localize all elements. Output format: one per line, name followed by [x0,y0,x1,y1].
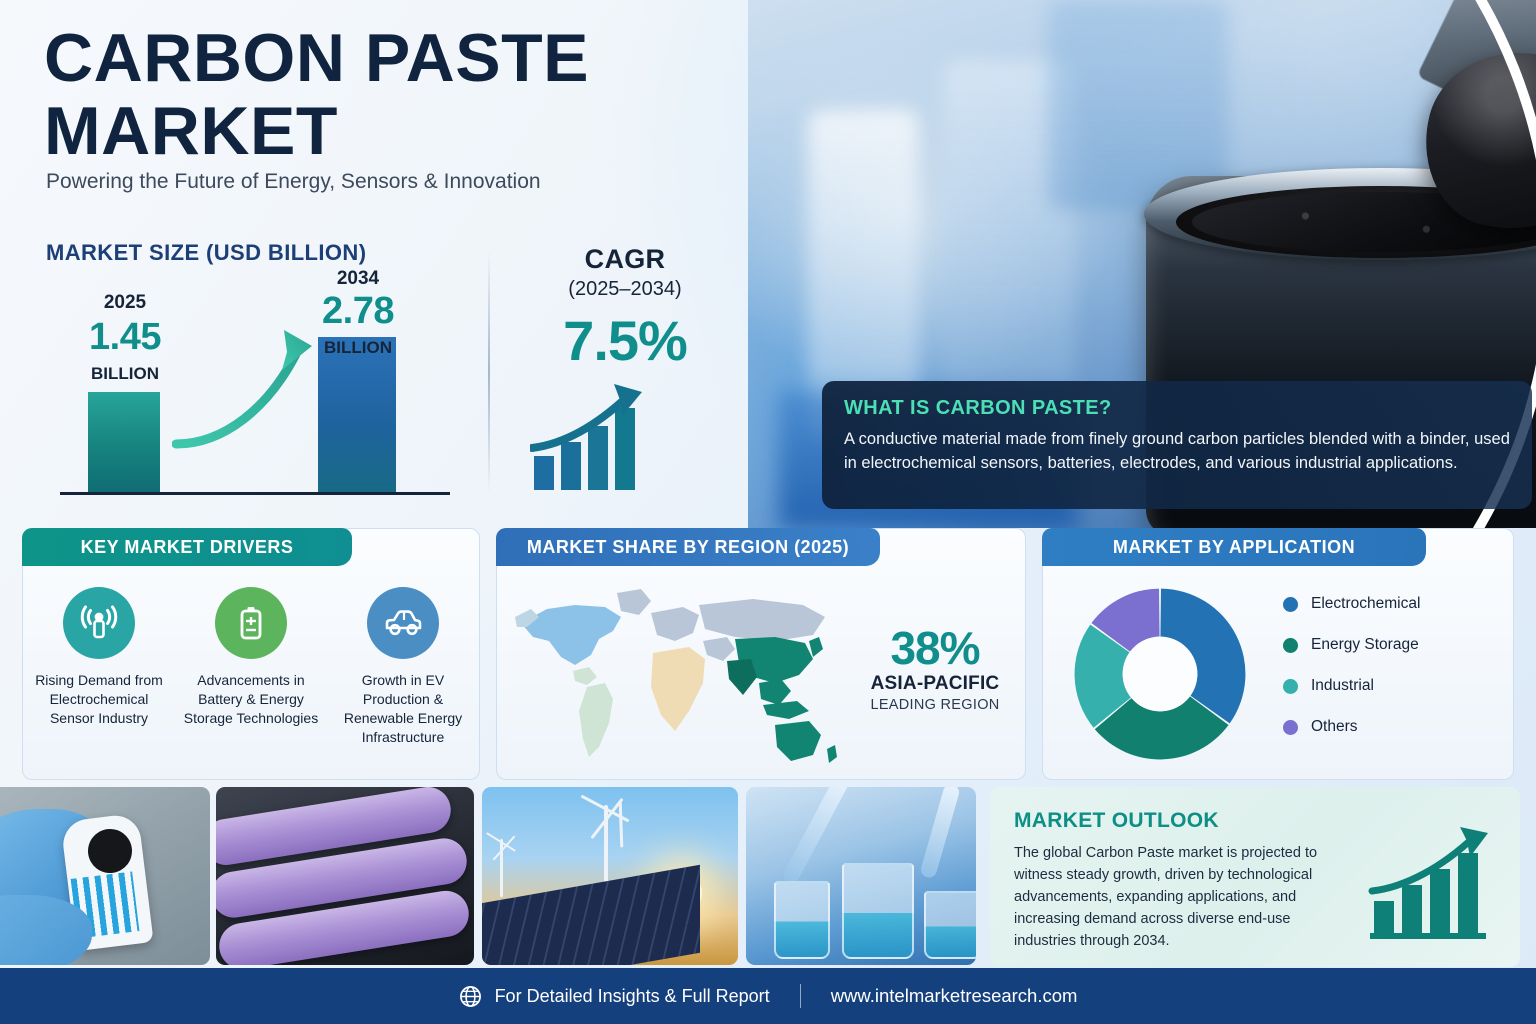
footer-url[interactable]: www.intelmarketresearch.com [831,985,1078,1007]
legend-color-dot [1283,638,1298,653]
map-region-india [727,659,757,695]
beaker [842,863,914,959]
application-heading: MARKET BY APPLICATION [1042,528,1426,566]
bar-2025-value: 1.45 [80,316,170,359]
legend-label: Energy Storage [1311,636,1419,654]
driver-label-battery: Advancements in Battery & Energy Storage… [181,671,321,728]
map-region-australia [775,721,821,761]
map-region-indonesia [763,701,809,719]
region-percent: 38% [857,621,1013,675]
growth-arrow-icon [172,326,332,456]
map-region-north-asia [699,599,825,641]
legend-label: Others [1311,718,1358,736]
map-region-africa [651,647,705,731]
driver-item-battery[interactable]: Advancements in Battery & Energy Storage… [175,573,327,747]
application-legend: ElectrochemicalEnergy StorageIndustrialO… [1283,595,1420,759]
photo-laboratory [746,787,976,965]
bar-2025 [88,392,160,492]
map-region-south-america [579,683,613,757]
driver-item-ev[interactable]: Growth in EV Production & Renewable Ener… [327,573,479,747]
battery-icon [215,587,287,659]
footer-divider [800,984,801,1008]
cagr-label: CAGR [520,244,730,275]
drivers-list: Rising Demand from Electrochemical Senso… [23,573,479,747]
map-region-greenland [617,589,651,615]
globe-icon [459,985,482,1008]
key-market-drivers-panel: KEY MARKET DRIVERS Rising Demand from El… [22,528,480,780]
map-region-middle-east [703,637,735,661]
market-share-by-region-panel: MARKET SHARE BY REGION (2025) [496,528,1026,780]
footer-bar: For Detailed Insights & Full Report www.… [0,968,1536,1024]
sensor-signal-icon [63,587,135,659]
legend-item-industrial[interactable]: Industrial [1283,677,1420,695]
market-size-chart: 2025 1.45 BILLION 2034 2.78 BILLION [46,270,466,495]
cagr-growth-chart-icon [530,382,660,492]
photo-renewable-energy [482,787,738,965]
legend-item-others[interactable]: Others [1283,718,1420,736]
footer-cta: For Detailed Insights & Full Report [495,986,770,1007]
beaker [924,891,976,959]
driver-label-sensor: Rising Demand from Electrochemical Senso… [29,671,169,728]
photo-electrochemical-sensor [0,787,210,965]
application-donut-chart [1071,585,1249,763]
what-is-heading: WHAT IS CARBON PASTE? [844,397,1510,420]
outlook-body: The global Carbon Paste market is projec… [1014,842,1319,952]
market-outlook-box: MARKET OUTLOOK The global Carbon Paste m… [990,787,1520,967]
photo-battery-cells [216,787,474,965]
driver-item-sensor[interactable]: Rising Demand from Electrochemical Senso… [23,573,175,747]
infographic-page: CARBON PASTE MARKET Powering the Future … [0,0,1536,1024]
region-name: ASIA-PACIFIC [857,673,1013,695]
bar-2025-unit: BILLION [86,364,164,384]
legend-color-dot [1283,679,1298,694]
page-title: CARBON PASTE MARKET [44,26,744,165]
map-region-new-zealand [827,745,837,763]
page-subtitle: Powering the Future of Energy, Sensors &… [46,170,541,194]
region-statistic: 38% ASIA-PACIFIC LEADING REGION [857,621,1013,713]
cagr-range: (2025–2034) [520,278,730,301]
bar-2025-year: 2025 [86,292,164,314]
bar-2034-year: 2034 [318,268,398,290]
market-by-application-panel: MARKET BY APPLICATION ElectrochemicalEne… [1042,528,1514,780]
title-line-2: MARKET [44,99,744,164]
section-divider [488,250,490,494]
what-is-body: A conductive material made from finely g… [844,427,1510,476]
chart-baseline [60,492,450,495]
map-region-central-america [573,667,597,685]
what-is-carbon-paste-box: WHAT IS CARBON PASTE? A conductive mater… [822,381,1532,509]
legend-color-dot [1283,720,1298,735]
market-size-heading: MARKET SIZE (USD BILLION) [46,240,366,266]
legend-label: Industrial [1311,677,1374,695]
beaker [774,881,830,959]
legend-item-electrochemical[interactable]: Electrochemical [1283,595,1420,613]
legend-item-energy-storage[interactable]: Energy Storage [1283,636,1420,654]
drivers-heading: KEY MARKET DRIVERS [22,528,352,566]
legend-label: Electrochemical [1311,595,1420,613]
region-heading: MARKET SHARE BY REGION (2025) [496,528,880,566]
map-region-europe [651,607,699,641]
map-region-japan [809,637,823,657]
map-region-southeast-asia [759,679,791,705]
legend-color-dot [1283,597,1298,612]
driver-label-ev: Growth in EV Production & Renewable Ener… [333,671,473,747]
car-icon [367,587,439,659]
region-caption: LEADING REGION [857,697,1013,713]
cagr-value: 7.5% [505,308,745,373]
world-map [513,579,843,771]
title-line-1: CARBON PASTE [44,20,589,96]
outlook-growth-chart-icon [1368,827,1498,943]
